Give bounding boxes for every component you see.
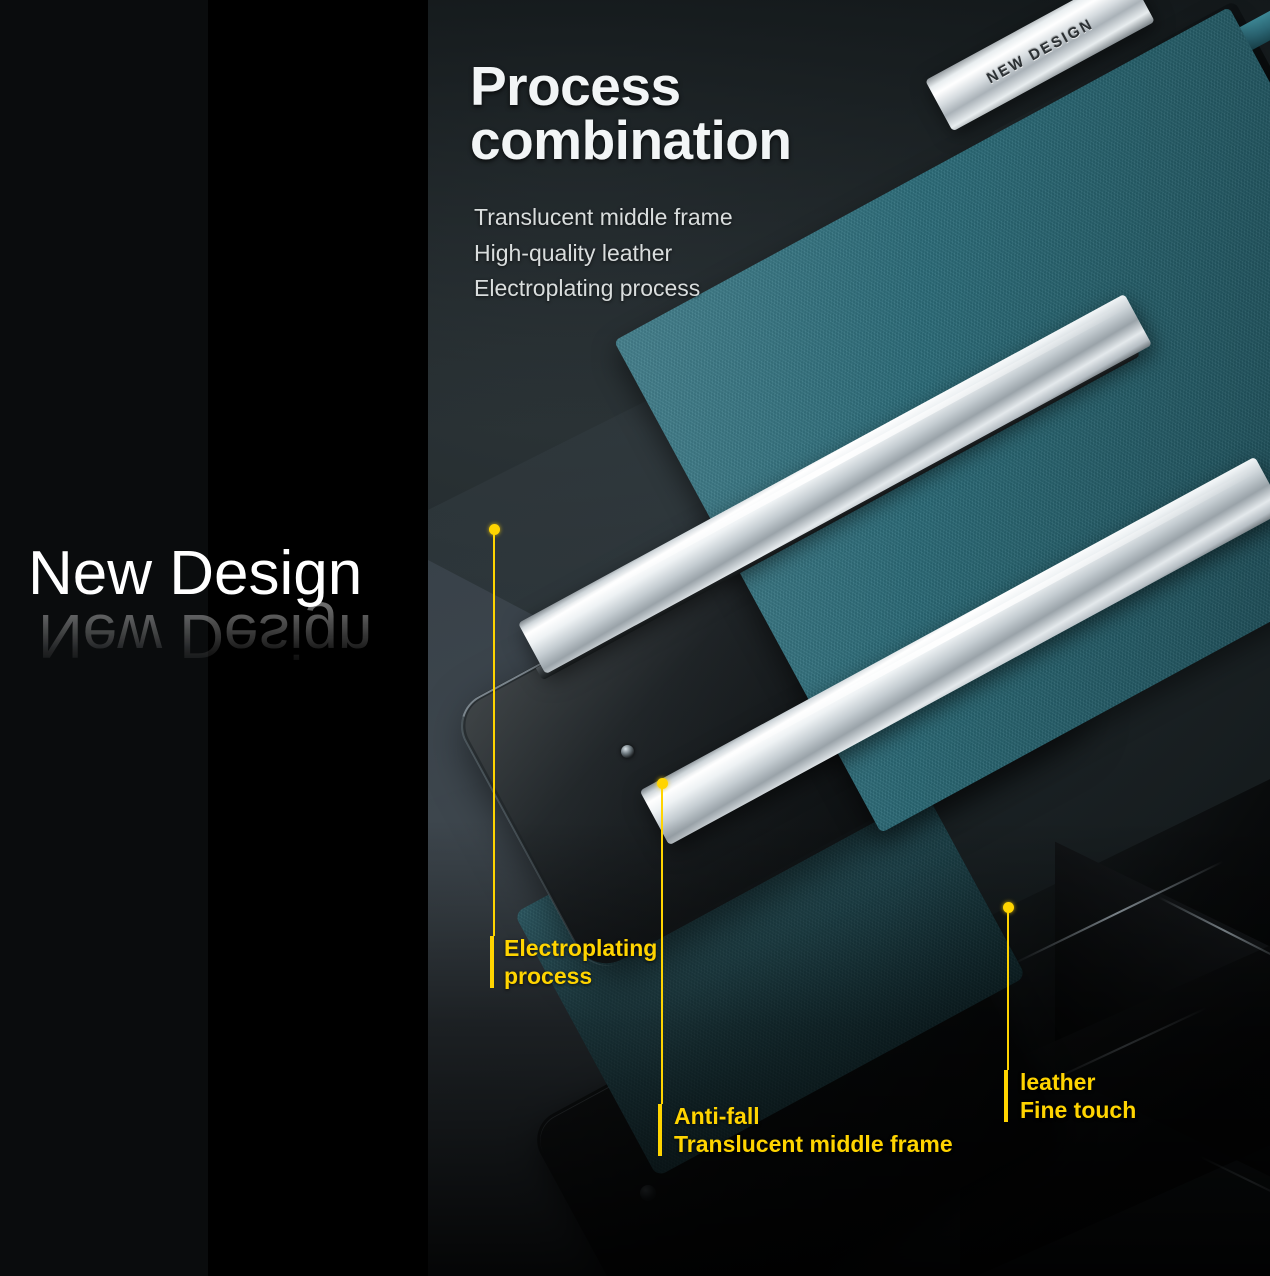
scene-bottom-shadow	[428, 820, 1270, 1276]
callout-tick-anti-fall	[658, 1104, 662, 1156]
headline-line-1: Process	[470, 55, 681, 117]
callout-line-1: Electroplating	[504, 934, 657, 962]
feature-item: Translucent middle frame	[474, 200, 733, 236]
callout-line-2: Fine touch	[1020, 1096, 1136, 1124]
callout-anti-fall: Anti-fall Translucent middle frame	[674, 1102, 953, 1158]
callout-tick-leather	[1004, 1070, 1008, 1122]
wordmark-reflection: New Design	[38, 600, 372, 671]
callout-line-1: leather	[1020, 1068, 1136, 1096]
feature-item: Electroplating process	[474, 271, 733, 307]
callout-line-2: process	[504, 962, 657, 990]
callout-line-electroplating	[493, 532, 495, 936]
feature-item: High-quality leather	[474, 236, 733, 272]
callout-line-anti-fall	[661, 786, 663, 1104]
callout-electroplating: Electroplating process	[504, 934, 657, 990]
headline-line-2: combination	[470, 114, 900, 168]
callout-leather: leather Fine touch	[1020, 1068, 1136, 1124]
callout-line-leather	[1007, 910, 1009, 1070]
callout-line-1: Anti-fall	[674, 1102, 953, 1130]
callout-tick-electroplating	[490, 936, 494, 988]
callout-line-2: Translucent middle frame	[674, 1130, 953, 1158]
camera-nub-left	[621, 745, 634, 758]
product-marketing-banner: NEW DESIGN Process combination Transluce…	[0, 0, 1270, 1276]
wordmark-new-design: New Design	[28, 538, 362, 609]
headline: Process combination	[470, 60, 900, 168]
feature-list: Translucent middle frame High-quality le…	[474, 200, 733, 307]
